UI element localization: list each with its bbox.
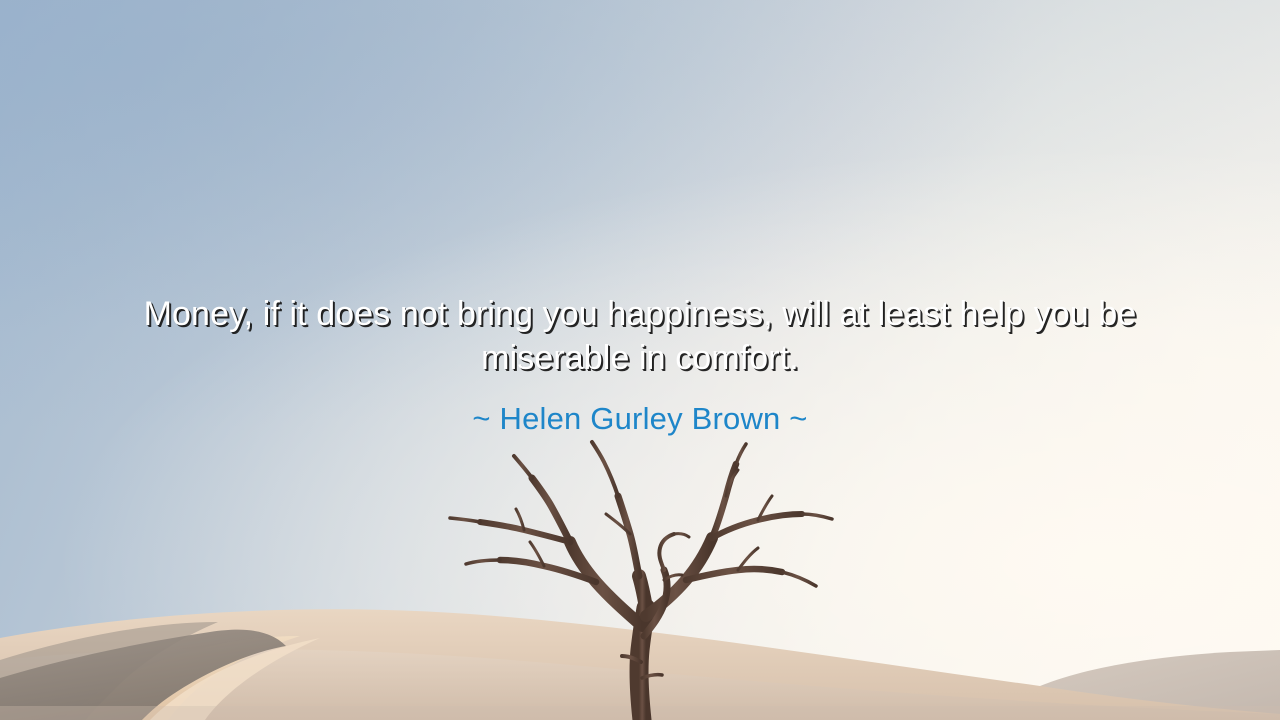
quote-text: Money, if it does not bring you happines… bbox=[110, 292, 1170, 380]
text-overlay: Money, if it does not bring you happines… bbox=[0, 0, 1280, 720]
quote-attribution: ~ Helen Gurley Brown ~ bbox=[472, 400, 807, 438]
quote-image: Money, if it does not bring you happines… bbox=[0, 0, 1280, 720]
